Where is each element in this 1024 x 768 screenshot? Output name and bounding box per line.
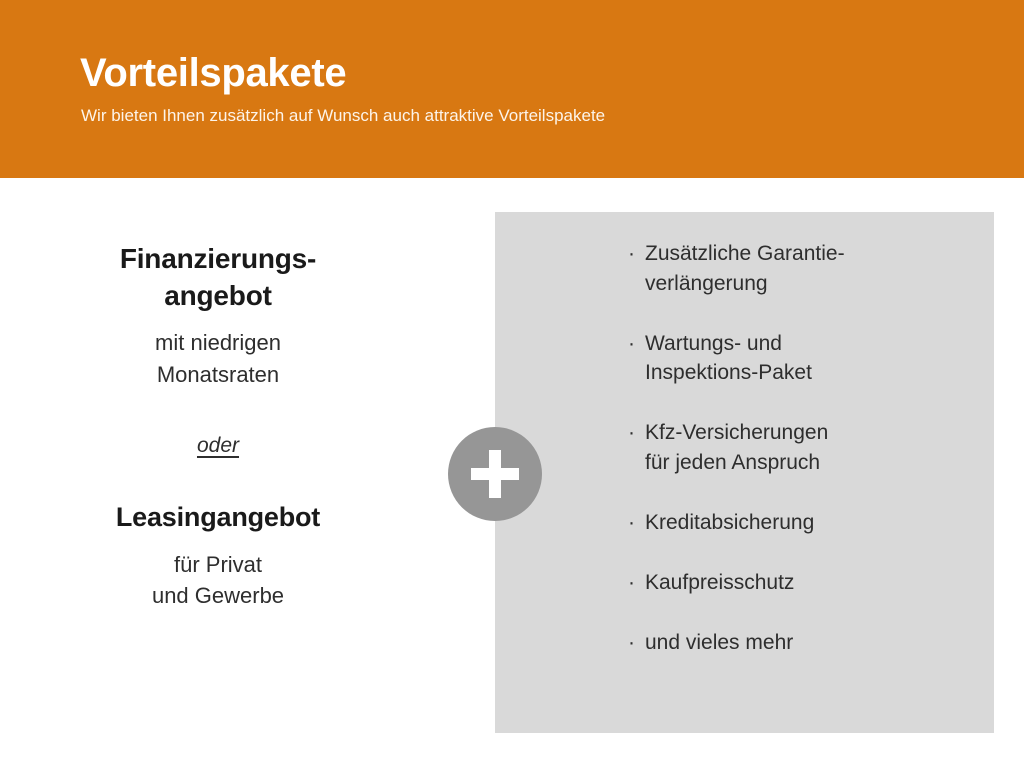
list-item-line2: verlängerung (645, 269, 958, 299)
financing-offer-detail: mit niedrigen Monatsraten (58, 327, 378, 389)
leasing-offer-detail-line1: für Privat (174, 552, 262, 577)
financing-offer-block: Finanzierungs- angebot mit niedrigen Mon… (58, 240, 378, 390)
bullet-icon: · (628, 329, 635, 359)
bullet-icon: · (628, 239, 635, 269)
bullet-icon: · (628, 508, 635, 538)
financing-offer-detail-line2: Monatsraten (157, 362, 279, 387)
list-item: · Wartungs- und Inspektions-Paket (628, 329, 958, 389)
list-item-line2: für jeden Anspruch (645, 448, 958, 478)
list-item-line1: und vieles mehr (645, 628, 958, 658)
benefits-list: · Zusätzliche Garantie- verlängerung · W… (628, 239, 958, 657)
financing-offer-heading-line1: Finanzierungs- (120, 243, 316, 274)
leasing-offer-block: Leasingangebot für Privat und Gewerbe (58, 500, 378, 611)
plus-icon (448, 427, 542, 521)
list-item-line1: Kfz-Versicherungen (645, 418, 958, 448)
list-item: · Zusätzliche Garantie- verlängerung (628, 239, 958, 299)
list-item: · Kaufpreisschutz (628, 568, 958, 598)
bullet-icon: · (628, 628, 635, 658)
list-item: · Kreditabsicherung (628, 508, 958, 538)
list-item: · und vieles mehr (628, 628, 958, 658)
offers-column: Finanzierungs- angebot mit niedrigen Mon… (58, 240, 378, 611)
page-subtitle: Wir bieten Ihnen zusätzlich auf Wunsch a… (81, 105, 605, 127)
leasing-offer-heading: Leasingangebot (58, 500, 378, 536)
financing-offer-heading-line2: angebot (164, 280, 271, 311)
bullet-icon: · (628, 418, 635, 448)
offer-divider-label: oder (58, 434, 378, 458)
bullet-icon: · (628, 568, 635, 598)
benefits-panel: · Zusätzliche Garantie- verlängerung · W… (495, 212, 994, 733)
list-item-line2: Inspektions-Paket (645, 358, 958, 388)
plus-icon-vertical-bar (489, 450, 501, 498)
list-item-line1: Kreditabsicherung (645, 508, 958, 538)
vorteilspakete-slide: Vorteilspakete Wir bieten Ihnen zusätzli… (0, 0, 1024, 768)
header-banner: Vorteilspakete Wir bieten Ihnen zusätzli… (0, 0, 1024, 178)
leasing-offer-detail: für Privat und Gewerbe (58, 549, 378, 611)
list-item: · Kfz-Versicherungen für jeden Anspruch (628, 418, 958, 478)
financing-offer-detail-line1: mit niedrigen (155, 330, 281, 355)
leasing-offer-detail-line2: und Gewerbe (152, 583, 284, 608)
list-item-line1: Kaufpreisschutz (645, 568, 958, 598)
page-title: Vorteilspakete (80, 52, 346, 94)
list-item-line1: Wartungs- und (645, 329, 958, 359)
list-item-line1: Zusätzliche Garantie- (645, 239, 958, 269)
financing-offer-heading: Finanzierungs- angebot (58, 240, 378, 314)
